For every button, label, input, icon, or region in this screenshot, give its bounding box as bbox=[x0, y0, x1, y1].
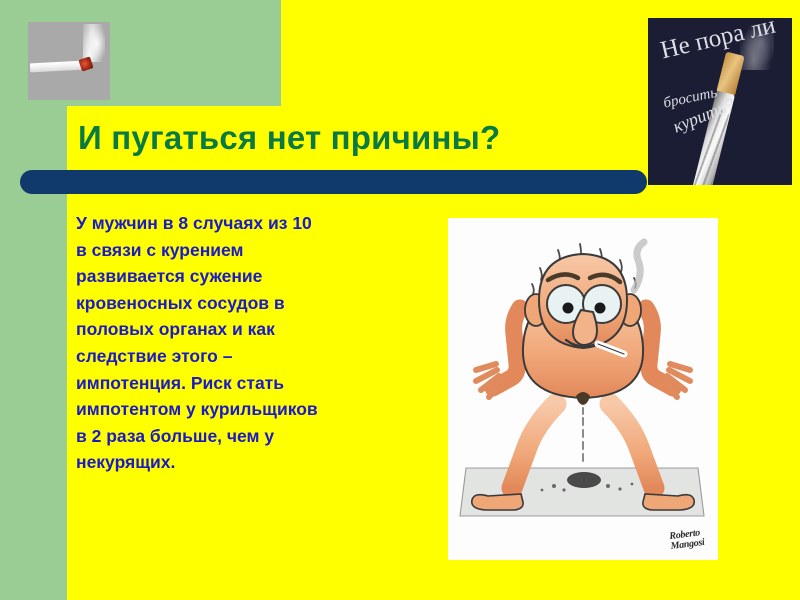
title-underline-bar bbox=[20, 170, 647, 194]
cartoon-puddle bbox=[567, 472, 601, 488]
cigarette-body-icon bbox=[30, 61, 84, 73]
cartoon-left-pupil bbox=[563, 303, 574, 314]
cigarette-photo bbox=[28, 22, 110, 100]
cartoon-smoke-icon bbox=[634, 242, 644, 290]
cartoon-right-foot bbox=[643, 494, 694, 510]
anti-smoking-poster: Не пора ли бросить курить? bbox=[648, 18, 792, 185]
cartoon-signature: Roberto Mangosi bbox=[669, 528, 705, 552]
cartoon-drawing bbox=[448, 218, 718, 560]
cartoon-right-pupil bbox=[595, 303, 606, 314]
cartoon-left-foot bbox=[472, 494, 523, 510]
slide-title: И пугаться нет причины? bbox=[78, 118, 638, 158]
slide-body-text: У мужчин в 8 случаях из 10 в связи с кур… bbox=[76, 210, 322, 476]
slide-canvas: И пугаться нет причины? У мужчин в 8 слу… bbox=[0, 0, 800, 600]
cartoon-illustration: Roberto Mangosi bbox=[448, 218, 718, 560]
poster-cigarette-filter bbox=[716, 52, 745, 97]
